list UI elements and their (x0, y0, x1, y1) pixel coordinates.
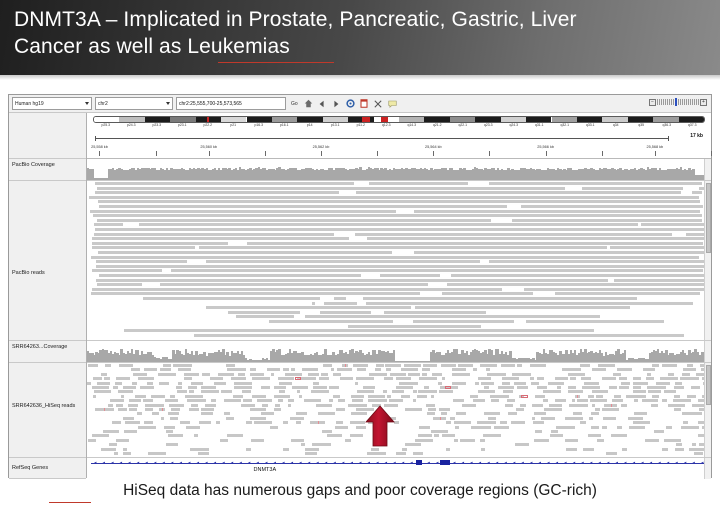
hiseq-read (292, 386, 308, 389)
hiseq-read (241, 404, 255, 407)
cytoband-label: p11.2 (357, 123, 365, 127)
zoom-tick[interactable] (659, 99, 660, 105)
pacbio-read-gap (123, 223, 139, 226)
zoom-slider[interactable]: − + (649, 98, 707, 106)
hiseq-read (517, 386, 527, 389)
zoom-tick[interactable] (688, 99, 689, 105)
hiseq-read (633, 386, 641, 389)
gene-model-line (91, 463, 705, 464)
hiseq-reads-scrollbar[interactable] (704, 363, 711, 457)
pacbio-read (228, 311, 486, 314)
hiseq-read (291, 439, 304, 442)
igv-body: PacBio Coverage PacBio reads SRR64263...… (9, 113, 711, 478)
hiseq-read (201, 408, 214, 411)
hiseq-read (386, 368, 391, 371)
hiseq-read (441, 412, 447, 415)
banner-shadow (0, 75, 720, 80)
hiseq-read (613, 373, 621, 376)
go-button[interactable]: Go (289, 101, 300, 107)
chromosome-select[interactable]: chr2 (95, 97, 173, 110)
hiseq-read (452, 382, 466, 385)
hiseq-read (645, 439, 659, 442)
hiseq-read (184, 373, 198, 376)
hiseq-read (478, 390, 496, 393)
track-pacbio-coverage[interactable] (87, 159, 711, 181)
hiseq-read (109, 443, 117, 446)
gene-label: DNMT3A (254, 467, 277, 473)
hiseq-read (367, 452, 386, 455)
gene-strand-arrow: ◄ (615, 461, 619, 465)
hiseq-read (205, 404, 216, 407)
cytoband-label: q34 (613, 123, 619, 127)
pacbio-read-gap (468, 182, 489, 185)
hiseq-read (651, 404, 658, 407)
hiseq-read (543, 399, 548, 402)
gene-strand-arrow: ◄ (675, 461, 679, 465)
refresh-icon[interactable] (345, 97, 356, 110)
track-name-pacbio-coverage[interactable]: PacBio Coverage (9, 159, 86, 181)
hiseq-read (88, 439, 96, 442)
cytoband-label: q14.3 (408, 123, 417, 127)
hiseq-read (168, 434, 184, 437)
hiseq-read (384, 377, 393, 380)
hiseq-read (231, 377, 246, 380)
hiseq-read (508, 412, 518, 415)
hiseq-read (531, 382, 539, 385)
zoom-tick[interactable] (694, 99, 695, 105)
gene-exon (440, 460, 449, 465)
hiseq-read (333, 373, 342, 376)
hiseq-read (582, 386, 600, 389)
hiseq-read (128, 404, 138, 407)
zoom-tick[interactable] (696, 99, 697, 105)
hiseq-read (189, 408, 199, 411)
red-up-arrow-annotation (365, 404, 395, 448)
hiseq-read (544, 408, 562, 411)
zoom-tick[interactable] (686, 99, 687, 105)
home-icon[interactable] (303, 97, 314, 110)
hiseq-read (598, 364, 615, 367)
hiseq-read (621, 404, 627, 407)
pacbio-read (95, 228, 705, 231)
locus-input[interactable]: chr2:25,555,700-25,573,565 (176, 97, 286, 110)
hiseq-read (454, 439, 458, 442)
hiseq-read (431, 395, 434, 398)
hiseq-read (166, 443, 178, 446)
caption-spellcheck-underline (49, 502, 91, 503)
hiseq-read (581, 377, 591, 380)
pacbio-reads-scrollbar[interactable] (704, 181, 711, 340)
hiseq-read (233, 395, 243, 398)
hiseq-read (226, 417, 234, 420)
hiseq-read (473, 368, 477, 371)
hiseq-read (147, 382, 153, 385)
hiseq-read (246, 421, 252, 424)
hiseq-read (178, 382, 182, 385)
hiseq-read (283, 421, 288, 424)
pacbio-read-gap (320, 297, 334, 300)
chromosome-ideogram[interactable] (93, 116, 705, 123)
pacbio-read-gap (491, 219, 512, 222)
hiseq-read (453, 399, 464, 402)
hiseq-read (337, 368, 353, 371)
hiseq-read (422, 373, 427, 376)
pacbio-read (99, 274, 704, 277)
pacbio-reads-scroll-thumb[interactable] (706, 183, 711, 253)
gene-strand-arrow: ◄ (469, 461, 473, 465)
gene-strand-arrow: ◄ (264, 461, 268, 465)
cytoband-labels: p25.3p24.3p23.3p23.1p22.2p21p16.3p16.1p1… (93, 123, 705, 130)
header-panel: p25.3p24.3p23.3p23.1p22.2p21p16.3p16.1p1… (87, 113, 711, 159)
hiseq-read (387, 395, 391, 398)
hiseq-read (666, 426, 672, 429)
back-arrow-icon[interactable] (317, 97, 328, 110)
zoom-tick[interactable] (671, 99, 672, 105)
pacbio-read-gap (187, 260, 206, 263)
hiseq-read (674, 395, 680, 398)
zoom-tick[interactable] (698, 99, 699, 105)
hiseq-read (500, 421, 507, 424)
zoom-tick[interactable] (684, 99, 685, 105)
hiseq-read (454, 421, 471, 424)
pacbio-read-gap (565, 187, 582, 190)
hiseq-read (283, 448, 289, 451)
zoom-tick[interactable] (661, 99, 662, 105)
hiseq-read (92, 386, 108, 389)
hiseq-read (274, 386, 285, 389)
hiseq-read (291, 368, 295, 371)
gene-strand-arrow: ◄ (452, 461, 456, 465)
hiseq-read (419, 426, 430, 429)
pacbio-read-gap (195, 246, 199, 249)
hiseq-read (227, 368, 246, 371)
region-tool-icon[interactable] (359, 97, 370, 110)
gene-strand-arrow: ◄ (119, 461, 123, 465)
gene-strand-arrow: ◄ (239, 461, 243, 465)
hiseq-read (471, 426, 490, 429)
hiseq-read (350, 434, 364, 437)
gene-strand-arrow: ◄ (692, 461, 696, 465)
hiseq-coverage-scrollbar[interactable] (704, 341, 711, 362)
hiseq-read (251, 439, 264, 442)
zoom-tick[interactable] (673, 99, 674, 105)
hiseq-read (351, 395, 364, 398)
hiseq-read (550, 434, 563, 437)
hiseq-read (577, 399, 588, 402)
pacbio-read-gap (514, 320, 526, 323)
hiseq-read (439, 408, 450, 411)
pacbio-read-gap (428, 283, 447, 286)
hiseq-read (116, 404, 123, 407)
gene-strand-arrow: ◄ (563, 461, 567, 465)
pacbio-read-gap (361, 274, 380, 277)
hiseq-read (110, 399, 124, 402)
hiseq-read (368, 395, 386, 398)
zoom-tick[interactable] (663, 99, 664, 105)
gene-strand-arrow: ◄ (204, 461, 208, 465)
gene-strand-arrow: ◄ (538, 461, 542, 465)
hiseq-read (159, 382, 169, 385)
hiseq-read (674, 386, 684, 389)
gene-strand-arrow: ◄ (435, 461, 439, 465)
pacbio-read-gap (396, 210, 414, 213)
zoom-ticks[interactable] (657, 98, 699, 106)
ruler-span-line (95, 138, 669, 139)
genome-select[interactable]: Human hg19 (12, 97, 92, 110)
pacbio-read (97, 187, 705, 190)
gene-strand-arrow: ◄ (640, 461, 644, 465)
hiseq-read (396, 377, 411, 380)
hiseq-read (216, 421, 219, 424)
hiseq-read (413, 452, 423, 455)
pacbio-read-gap (411, 306, 414, 309)
pacbio-read-gap (480, 260, 489, 263)
zoom-tick[interactable] (675, 98, 677, 106)
zoom-in-button[interactable]: + (700, 99, 707, 106)
cytoband-label: p24.3 (127, 123, 136, 127)
hiseq-read (238, 373, 244, 376)
pacbio-read-gap (349, 237, 367, 240)
hiseq-read (118, 408, 126, 411)
gene-strand-arrow: ◄ (230, 461, 234, 465)
hiseq-read (535, 430, 542, 433)
hiseq-read (221, 390, 232, 393)
hiseq-read (534, 439, 549, 442)
hiseq-read (250, 373, 263, 376)
hiseq-mismatch-box (445, 386, 451, 389)
track-hiseq-reads[interactable] (87, 363, 711, 458)
hiseq-read (187, 399, 206, 402)
hiseq-read (423, 364, 437, 367)
pacbio-read-gap (162, 269, 170, 272)
gene-strand-arrow: ◄ (281, 461, 285, 465)
pacbio-read-gap (142, 283, 159, 286)
hiseq-read (116, 377, 130, 380)
hiseq-read (580, 421, 585, 424)
gene-strand-arrow: ◄ (162, 461, 166, 465)
pacbio-read (92, 237, 704, 240)
hiseq-read (129, 408, 137, 411)
zoom-tick[interactable] (680, 99, 681, 105)
cytoband-label: q23.3 (484, 123, 493, 127)
hiseq-read (516, 408, 524, 411)
hiseq-read (329, 386, 340, 389)
hiseq-reads-scroll-thumb[interactable] (706, 365, 711, 405)
cytoband-label: q21.2 (433, 123, 442, 127)
hiseq-read (532, 404, 543, 407)
gene-strand-arrow: ◄ (307, 461, 311, 465)
hiseq-read (647, 386, 666, 389)
hiseq-read (103, 430, 119, 433)
hiseq-read (426, 404, 435, 407)
hiseq-read (660, 377, 678, 380)
hiseq-read (691, 386, 700, 389)
hiseq-read (190, 448, 209, 451)
zoom-tick[interactable] (690, 99, 691, 105)
pacbio-read (269, 320, 664, 323)
zoom-tick[interactable] (678, 99, 679, 105)
hiseq-read (520, 404, 526, 407)
hiseq-read (279, 382, 292, 385)
gene-strand-arrow: ◄ (324, 461, 328, 465)
cytoband-label: p13.1 (331, 123, 340, 127)
gene-strand-arrow: ◄ (401, 461, 405, 465)
gene-strand-arrow: ◄ (170, 461, 174, 465)
hiseq-read (313, 386, 327, 389)
track-hiseq-coverage[interactable] (87, 341, 711, 363)
gene-strand-arrow: ◄ (427, 461, 431, 465)
hiseq-read (682, 412, 701, 415)
tooltip-icon[interactable] (387, 97, 398, 110)
pacbio-coverage-scrollbar[interactable] (704, 159, 711, 180)
hiseq-read (180, 421, 190, 424)
hiseq-read (290, 417, 305, 420)
hiseq-read (285, 373, 303, 376)
gene-strand-arrow: ◄ (589, 461, 593, 465)
hiseq-read (502, 382, 510, 385)
zoom-tick[interactable] (669, 99, 670, 105)
hiseq-read (442, 377, 445, 380)
pacbio-read-gap (228, 242, 248, 245)
hiseq-read (664, 390, 675, 393)
hiseq-read (331, 368, 334, 371)
hiseq-read (647, 373, 652, 376)
hiseq-read (170, 417, 178, 420)
gene-strand-arrow: ◄ (666, 461, 670, 465)
hiseq-read (198, 452, 208, 455)
hiseq-read (191, 382, 203, 385)
hiseq-read (488, 417, 495, 420)
hiseq-read (375, 368, 380, 371)
hiseq-read (687, 364, 692, 367)
hiseq-read (131, 368, 140, 371)
hiseq-read (202, 373, 210, 376)
hiseq-read (566, 448, 578, 451)
gene-strand-arrow: ◄ (478, 461, 482, 465)
hiseq-mismatch (318, 421, 319, 424)
hiseq-read (422, 368, 430, 371)
hiseq-read (517, 364, 522, 367)
gene-strand-arrow: ◄ (529, 461, 533, 465)
hiseq-read (399, 382, 418, 385)
hiseq-read (355, 382, 358, 385)
cytoband-label: q12.3 (382, 123, 391, 127)
hiseq-read (220, 439, 228, 442)
hiseq-read (333, 395, 340, 398)
hiseq-read (452, 373, 470, 376)
hiseq-read (118, 390, 133, 393)
resize-to-window-icon[interactable] (373, 97, 384, 110)
hiseq-read (312, 443, 330, 446)
hiseq-read (243, 399, 252, 402)
track-name-refseq-genes[interactable]: RefSeq Genes (9, 458, 86, 479)
hiseq-read (530, 364, 546, 367)
hiseq-read (161, 417, 164, 420)
chevron-down-icon (166, 102, 170, 105)
pacbio-read (312, 302, 693, 305)
hiseq-read (390, 373, 406, 376)
hiseq-read (121, 395, 125, 398)
hiseq-read (606, 452, 616, 455)
pacbio-read-gap (357, 302, 367, 305)
ruler-tick-mark (99, 151, 100, 156)
hiseq-read (537, 386, 547, 389)
hiseq-read (591, 426, 599, 429)
hiseq-read (186, 426, 200, 429)
hiseq-read (148, 452, 166, 455)
track-names-panel: PacBio Coverage PacBio reads SRR64263...… (9, 113, 87, 478)
hiseq-read (278, 399, 283, 402)
gene-track-scrollbar[interactable] (704, 458, 711, 479)
hiseq-read (188, 386, 197, 389)
hiseq-read (462, 404, 477, 407)
hiseq-read (478, 377, 491, 380)
track-name-pacbio-reads[interactable]: PacBio reads (9, 181, 86, 341)
hiseq-read (288, 404, 291, 407)
hiseq-read (308, 373, 319, 376)
zoom-tick[interactable] (682, 99, 683, 105)
forward-arrow-icon[interactable] (331, 97, 342, 110)
zoom-tick[interactable] (665, 99, 666, 105)
hiseq-read (185, 395, 203, 398)
hiseq-read (305, 448, 319, 451)
pacbio-read-gap (354, 182, 369, 185)
pacbio-read-gap (607, 246, 610, 249)
gene-strand-arrow: ◄ (504, 461, 508, 465)
hiseq-read (261, 412, 274, 415)
hiseq-read (336, 421, 343, 424)
hiseq-read (405, 408, 422, 411)
zoom-tick[interactable] (692, 99, 693, 105)
gene-strand-arrow: ◄ (350, 461, 354, 465)
track-pacbio-reads[interactable] (87, 181, 711, 341)
track-refseq-genes[interactable]: ◄◄◄◄◄◄◄◄◄◄◄◄◄◄◄◄◄◄◄◄◄◄◄◄◄◄◄◄◄◄◄◄◄◄◄◄◄◄◄◄… (87, 458, 711, 479)
hiseq-read (498, 386, 513, 389)
gene-strand-arrow: ◄ (316, 461, 320, 465)
zoom-tick[interactable] (667, 99, 668, 105)
hiseq-read (503, 390, 512, 393)
pacbio-read-gap (294, 315, 305, 318)
track-name-hiseq-coverage[interactable]: SRR64263...Coverage (9, 341, 86, 363)
zoom-out-button[interactable]: − (649, 99, 656, 106)
hiseq-read (612, 399, 623, 402)
gene-strand-arrow: ◄ (623, 461, 627, 465)
ruler-span-label: 17 kb (690, 133, 703, 139)
ruler-tick-label: 25,566 kb (537, 145, 554, 149)
hiseq-read (634, 399, 638, 402)
pacbio-read-gap (392, 251, 414, 254)
ruler[interactable]: 17 kb 25,558 kb25,560 kb25,562 kb25,564 … (87, 132, 711, 158)
hiseq-read (569, 404, 588, 407)
track-name-hiseq-reads[interactable]: SRR642636_HiSeq reads (9, 363, 86, 458)
hiseq-read (565, 417, 583, 420)
cytoband-label: q33.1 (586, 123, 595, 127)
genome-select-value: Human hg19 (15, 101, 44, 107)
pacbio-read-gap (502, 288, 524, 291)
hiseq-read (296, 412, 307, 415)
hiseq-mismatch (104, 408, 105, 411)
hiseq-read (656, 382, 670, 385)
igv-toolbar: Human hg19 chr2 chr2:25,555,700-25,573,5… (9, 95, 711, 113)
hiseq-read (113, 386, 118, 389)
hiseq-read (123, 452, 131, 455)
pacbio-read (99, 205, 702, 208)
gene-strand-arrow: ◄ (136, 461, 140, 465)
hiseq-read (267, 368, 280, 371)
zoom-tick[interactable] (657, 99, 658, 105)
hiseq-read (105, 364, 111, 367)
hiseq-read (602, 377, 617, 380)
